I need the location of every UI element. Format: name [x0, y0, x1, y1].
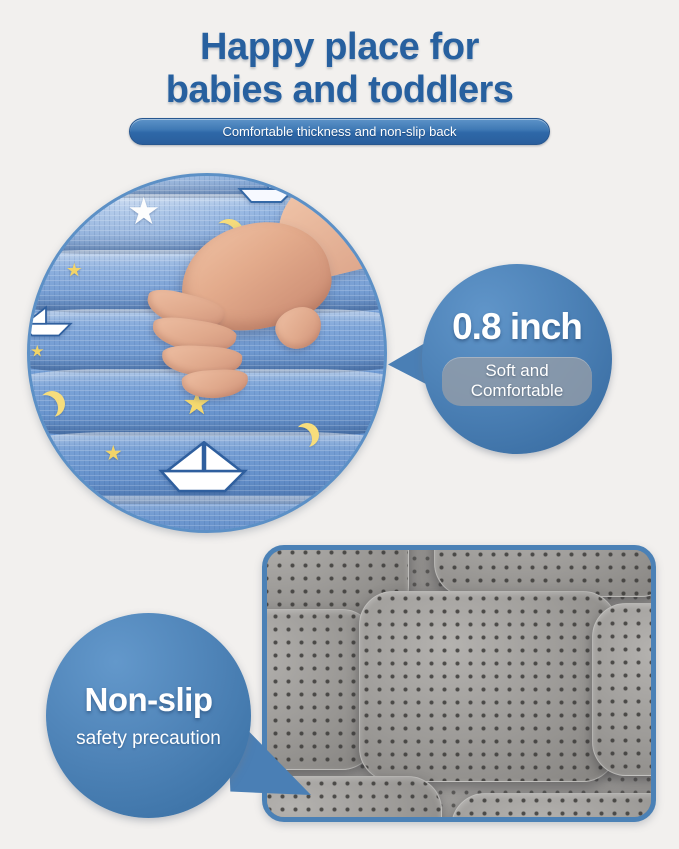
- top-thickness-photo: [27, 173, 387, 533]
- subtitle-banner-label: Comfortable thickness and non-slip back: [222, 124, 456, 139]
- marketing-infographic: Happy place for babies and toddlers Comf…: [0, 0, 679, 849]
- callout-title: 0.8 inch: [452, 306, 582, 348]
- callout-pill: Soft and Comfortable: [442, 357, 592, 405]
- callout-pill-line-2: Comfortable: [448, 381, 586, 400]
- moon-motif: [39, 391, 65, 417]
- moon-motif: [295, 423, 319, 447]
- callout-pill-line-1: Soft and: [448, 361, 586, 380]
- headline-line-1: Happy place for: [200, 26, 479, 68]
- callout-nonslip: Non-slip safety precaution: [46, 613, 311, 823]
- page-title: Happy place for babies and toddlers: [0, 26, 679, 112]
- callout-title: Non-slip: [85, 681, 213, 719]
- boat-motif: [157, 441, 249, 495]
- bottom-nonslip-photo: [262, 545, 656, 822]
- callout-bubble: Non-slip safety precaution: [46, 613, 251, 818]
- nonslip-fabric: [262, 545, 656, 822]
- boat-motif: [237, 173, 297, 205]
- callout-bubble: 0.8 inch Soft and Comfortable: [422, 264, 612, 454]
- boat-motif: [27, 305, 73, 339]
- headline-line-2: babies and toddlers: [0, 69, 679, 112]
- callout-thickness: 0.8 inch Soft and Comfortable: [388, 258, 620, 458]
- callout-subtitle: safety precaution: [76, 728, 221, 750]
- subtitle-banner: Comfortable thickness and non-slip back: [129, 118, 550, 145]
